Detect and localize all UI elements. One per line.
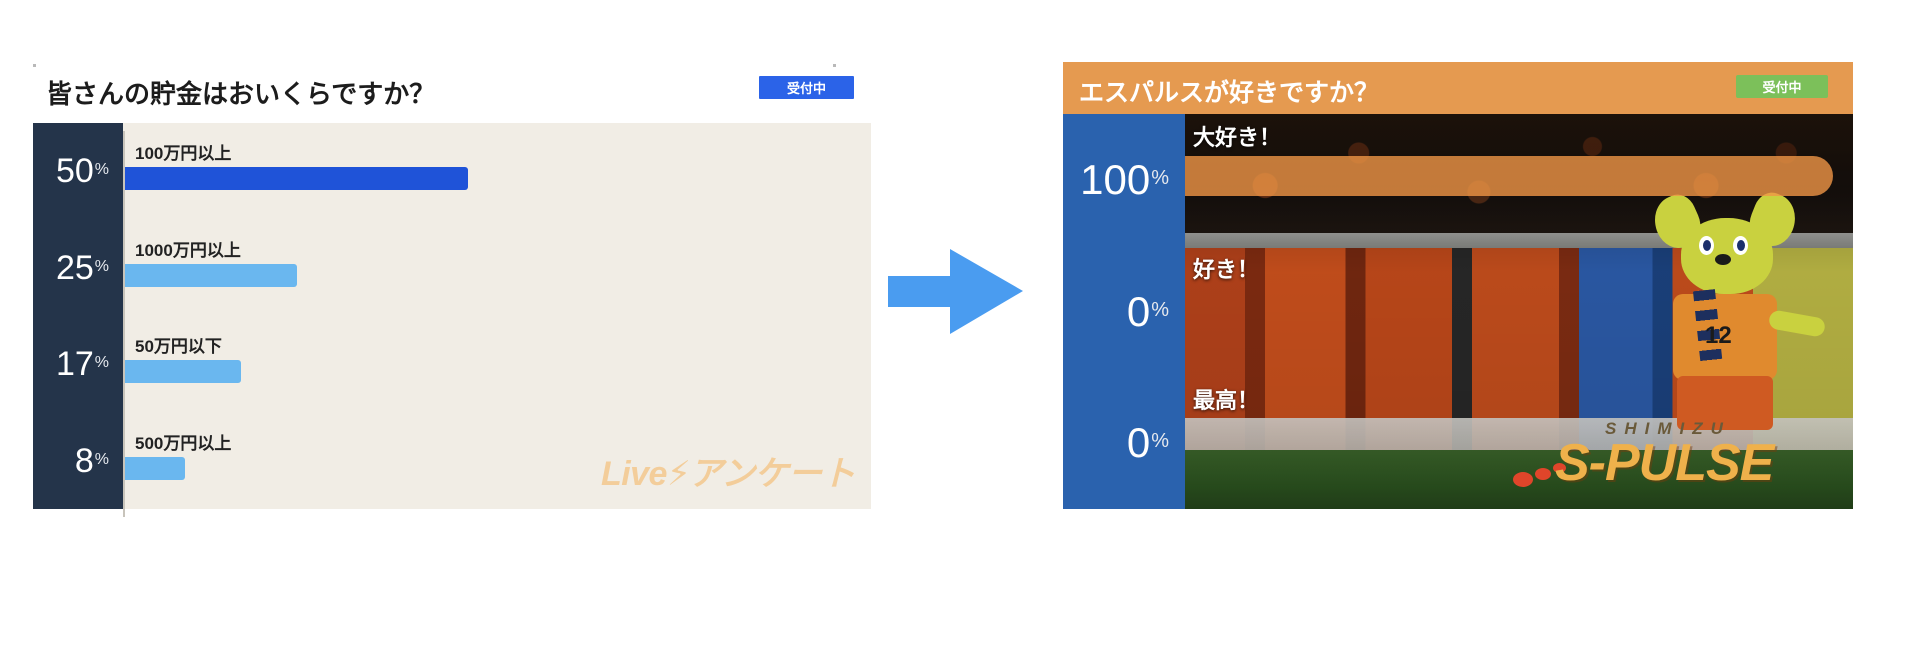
bar-track (125, 264, 871, 287)
bar-track (125, 360, 871, 383)
percent-value: 17 (56, 347, 94, 381)
watermark-jp: アンケート (689, 455, 855, 493)
percent-value: 100 (1080, 159, 1150, 201)
bar-label: 50万円以下 (135, 332, 222, 357)
percent-column: 100 % 0 % 0 % (1063, 114, 1185, 509)
arrow-right-icon (888, 249, 1023, 334)
bar-row: 大好き！ (1185, 114, 1853, 246)
bar-row: 好き！ (1185, 246, 1853, 378)
percent-sign: % (1150, 168, 1169, 192)
bar-label: 500万円以上 (135, 429, 231, 454)
lightning-bolt-icon: ⚡ (667, 455, 689, 493)
bar-track (1185, 156, 1853, 196)
percent-value: 8 (75, 444, 94, 478)
percent-sign: % (94, 452, 109, 470)
percent-column: 50 % 25 % 17 % 8 % (33, 123, 123, 509)
percent-value: 50 (56, 154, 94, 188)
bar-track (1185, 288, 1853, 328)
poll-header: エスパルスが好きですか？ 受付中 (1063, 62, 1853, 114)
watermark-latin: Live (601, 455, 667, 493)
percent-sign: % (94, 355, 109, 373)
bar-label: 100万円以上 (135, 139, 231, 164)
percent-sign: % (94, 162, 109, 180)
savings-poll-panel: 皆さんの貯金はおいくらですか？ 受付中 50 % 25 % 17 % 8 % (33, 62, 871, 509)
bar-row: 1000万円以上 (125, 228, 871, 325)
status-badge: 受付中 (759, 76, 854, 99)
bar-fill (125, 457, 185, 480)
bar-rows-overlay: 大好き！ 好き！ 最高！ (1185, 114, 1853, 509)
transition-arrow (888, 249, 1023, 334)
savings-bar-chart: 50 % 25 % 17 % 8 % 100万円以上 (33, 123, 871, 509)
percent-value: 0 (1127, 291, 1150, 333)
bar-fill (125, 264, 297, 287)
percent-sign: % (1150, 300, 1169, 324)
bar-area: 12 SHIMIZU S-PULSE 大好き！ (1185, 114, 1853, 509)
bar-fill (1185, 156, 1833, 196)
bar-row: 50万円以下 (125, 324, 871, 421)
bar-label: 好き！ (1193, 252, 1259, 284)
percent-cell: 50 % (33, 123, 123, 220)
spulse-poll-panel: エスパルスが好きですか？ 受付中 100 % 0 % 0 % (1063, 62, 1853, 509)
percent-cell: 25 % (33, 220, 123, 317)
bar-row: 最高！ (1185, 377, 1853, 509)
bar-track (1185, 419, 1853, 459)
percent-cell: 0 % (1063, 377, 1185, 509)
bar-label: 1000万円以上 (135, 236, 241, 261)
spulse-bar-chart: 100 % 0 % 0 % (1063, 114, 1853, 509)
bar-row: 100万円以上 (125, 131, 871, 228)
percent-value: 0 (1127, 422, 1150, 464)
percent-cell: 0 % (1063, 246, 1185, 378)
bar-fill (125, 360, 241, 383)
bar-label: 大好き！ (1193, 120, 1281, 152)
bar-label: 最高！ (1193, 383, 1259, 415)
page-title: 皆さんの貯金はおいくらですか？ (46, 74, 435, 111)
screenshot-canvas: 皆さんの貯金はおいくらですか？ 受付中 50 % 25 % 17 % 8 % (0, 0, 1926, 660)
percent-cell: 100 % (1063, 114, 1185, 246)
page-title: エスパルスが好きですか？ (1079, 73, 1379, 109)
percent-cell: 17 % (33, 316, 123, 413)
percent-sign: % (1150, 431, 1169, 455)
percent-cell: 8 % (33, 413, 123, 510)
status-badge: 受付中 (1736, 75, 1828, 98)
bar-fill (125, 167, 468, 190)
percent-sign: % (94, 259, 109, 277)
live-enquete-watermark: Live⚡アンケート (601, 446, 855, 495)
bar-track (125, 167, 871, 190)
percent-value: 25 (56, 251, 94, 285)
